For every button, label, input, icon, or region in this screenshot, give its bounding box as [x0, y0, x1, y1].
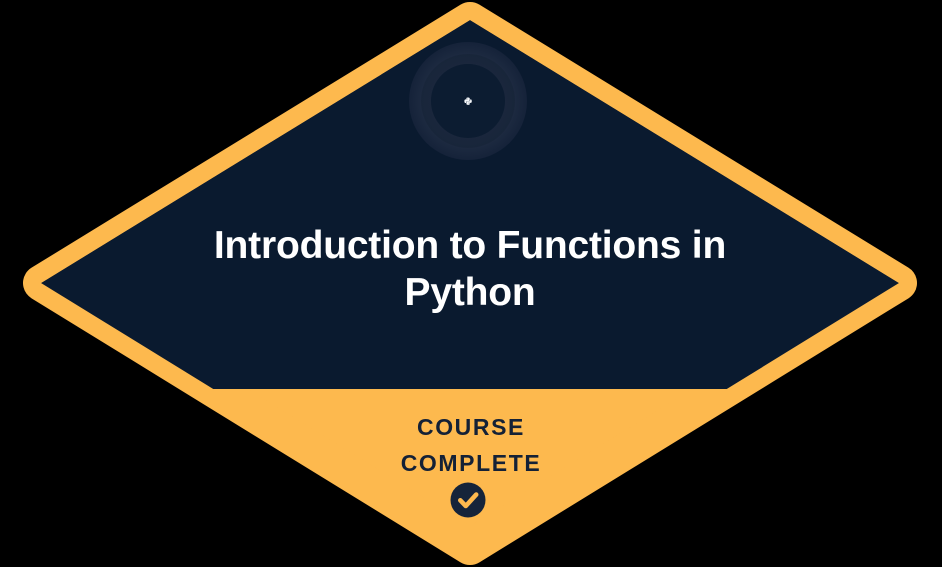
course-completion-badge[interactable] [0, 0, 942, 567]
check-circle-icon [451, 483, 486, 518]
completion-check-badge[interactable] [451, 483, 486, 518]
python-logo-badge [409, 42, 527, 160]
badge-canvas: Introduction to Functions in Python COUR… [0, 0, 942, 567]
